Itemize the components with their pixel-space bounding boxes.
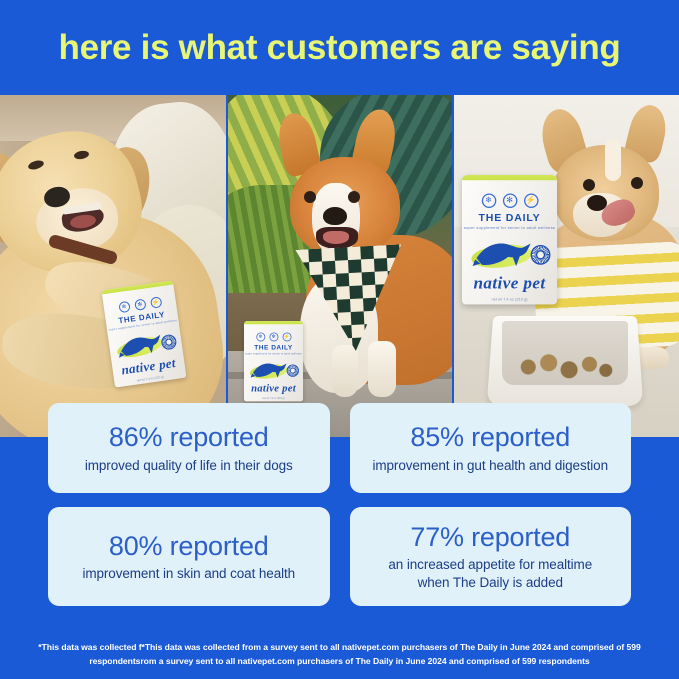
stat-value: 85% reported: [410, 423, 570, 451]
product-tin-2: ❄ ✻ ⚡ THE DAILY super supplement for sen…: [244, 321, 303, 401]
stat-card-quality-of-life: 86% reported improved quality of life in…: [48, 403, 330, 493]
stat-value: 80% reported: [109, 532, 269, 560]
bolt-icon: ⚡: [282, 332, 291, 341]
leaping-dog-icon: [472, 236, 535, 270]
paw-icon: ❄: [481, 193, 496, 208]
corgi-leg-left: [332, 345, 358, 397]
stat-description-line1: an increased appetite for mealtime: [388, 556, 592, 574]
leaping-dog-icon: [116, 328, 167, 360]
corgi-leg-right: [368, 341, 396, 397]
photo-corgi: ❄ ✻ ⚡ THE DAILY super supplement for sen…: [228, 95, 451, 437]
stat-card-grid: 86% reported improved quality of life in…: [48, 403, 631, 606]
product-tin-3: ❄ ✻ ⚡ THE DAILY super supplement for sen…: [462, 175, 557, 304]
photo-chihuahua: ❄ ✻ ⚡ THE DAILY super supplement for sen…: [454, 95, 679, 437]
quality-badge-icon: [530, 245, 550, 265]
leaf-icon: ✻: [269, 332, 278, 341]
tin-title: THE DAILY: [255, 344, 293, 351]
tin-brand: native pet: [251, 382, 296, 395]
footnote-line-1: *This data was collected f*This data was…: [38, 642, 614, 652]
tin-logo: [468, 234, 550, 271]
paw-icon: ❄: [118, 301, 130, 313]
product-tin: ❄ ✻ ⚡ THE DAILY super supplement for sen…: [244, 321, 303, 401]
tin-icon-row: ❄ ✻ ⚡: [481, 193, 538, 208]
product-tin: ❄ ✻ ⚡ THE DAILY super supplement for sen…: [462, 175, 557, 304]
tin-fine-print: net wt 7.4 oz (210 g): [491, 296, 527, 301]
headline-banner: here is what customers are saying: [0, 0, 679, 95]
chihuahua-eye-left: [583, 179, 595, 191]
tin-logo: [248, 358, 299, 381]
product-tin-1: ❄ ✻ ⚡ THE DAILY super supplement for sen…: [102, 280, 187, 387]
footnote: *This data was collected f*This data was…: [22, 641, 657, 669]
stat-card-appetite: 77% reported an increased appetite for m…: [350, 507, 632, 606]
stat-description-line2: when The Daily is added: [418, 574, 563, 592]
leaping-dog-icon: [251, 359, 290, 380]
chihuahua-eye-right: [631, 177, 643, 189]
tin-fine-print: net wt 7.4 oz (210 g): [263, 396, 285, 399]
page-title: here is what customers are saying: [58, 30, 620, 65]
tin-lid: [244, 321, 303, 324]
corgi-nose: [323, 207, 347, 225]
tin-title: THE DAILY: [478, 212, 540, 224]
stat-card-skin-and-coat: 80% reported improvement in skin and coa…: [48, 507, 330, 606]
stat-description: improvement in gut health and digestion: [372, 457, 608, 475]
product-tin: ❄ ✻ ⚡ THE DAILY super supplement for sen…: [102, 280, 187, 387]
stat-card-gut-health: 85% reported improvement in gut health a…: [350, 403, 632, 493]
stat-value: 86% reported: [109, 423, 269, 451]
leaf-icon: ✻: [134, 299, 146, 311]
stat-description: improvement in skin and coat health: [82, 565, 295, 583]
tin-icon-row: ❄ ✻ ⚡: [256, 332, 291, 341]
photo-golden-retriever: ❄ ✻ ⚡ THE DAILY super supplement for sen…: [0, 95, 226, 437]
stat-description: improved quality of life in their dogs: [85, 457, 293, 475]
tin-subtitle: super supplement for senior to adult wel…: [245, 352, 302, 355]
tin-subtitle: super supplement for senior to adult wel…: [464, 225, 555, 230]
stat-value: 77% reported: [410, 523, 570, 551]
bolt-icon: ⚡: [523, 193, 538, 208]
chihuahua-blaze: [605, 139, 621, 181]
paw-icon: ❄: [256, 332, 265, 341]
tin-lid: [462, 175, 557, 180]
kibble-food: [514, 353, 616, 381]
leaf-icon: ✻: [502, 193, 517, 208]
quality-badge-icon: [287, 364, 299, 376]
photo-strip: ❄ ✻ ⚡ THE DAILY super supplement for sen…: [0, 95, 679, 437]
bolt-icon: ⚡: [150, 296, 162, 308]
tin-brand: native pet: [473, 273, 545, 294]
